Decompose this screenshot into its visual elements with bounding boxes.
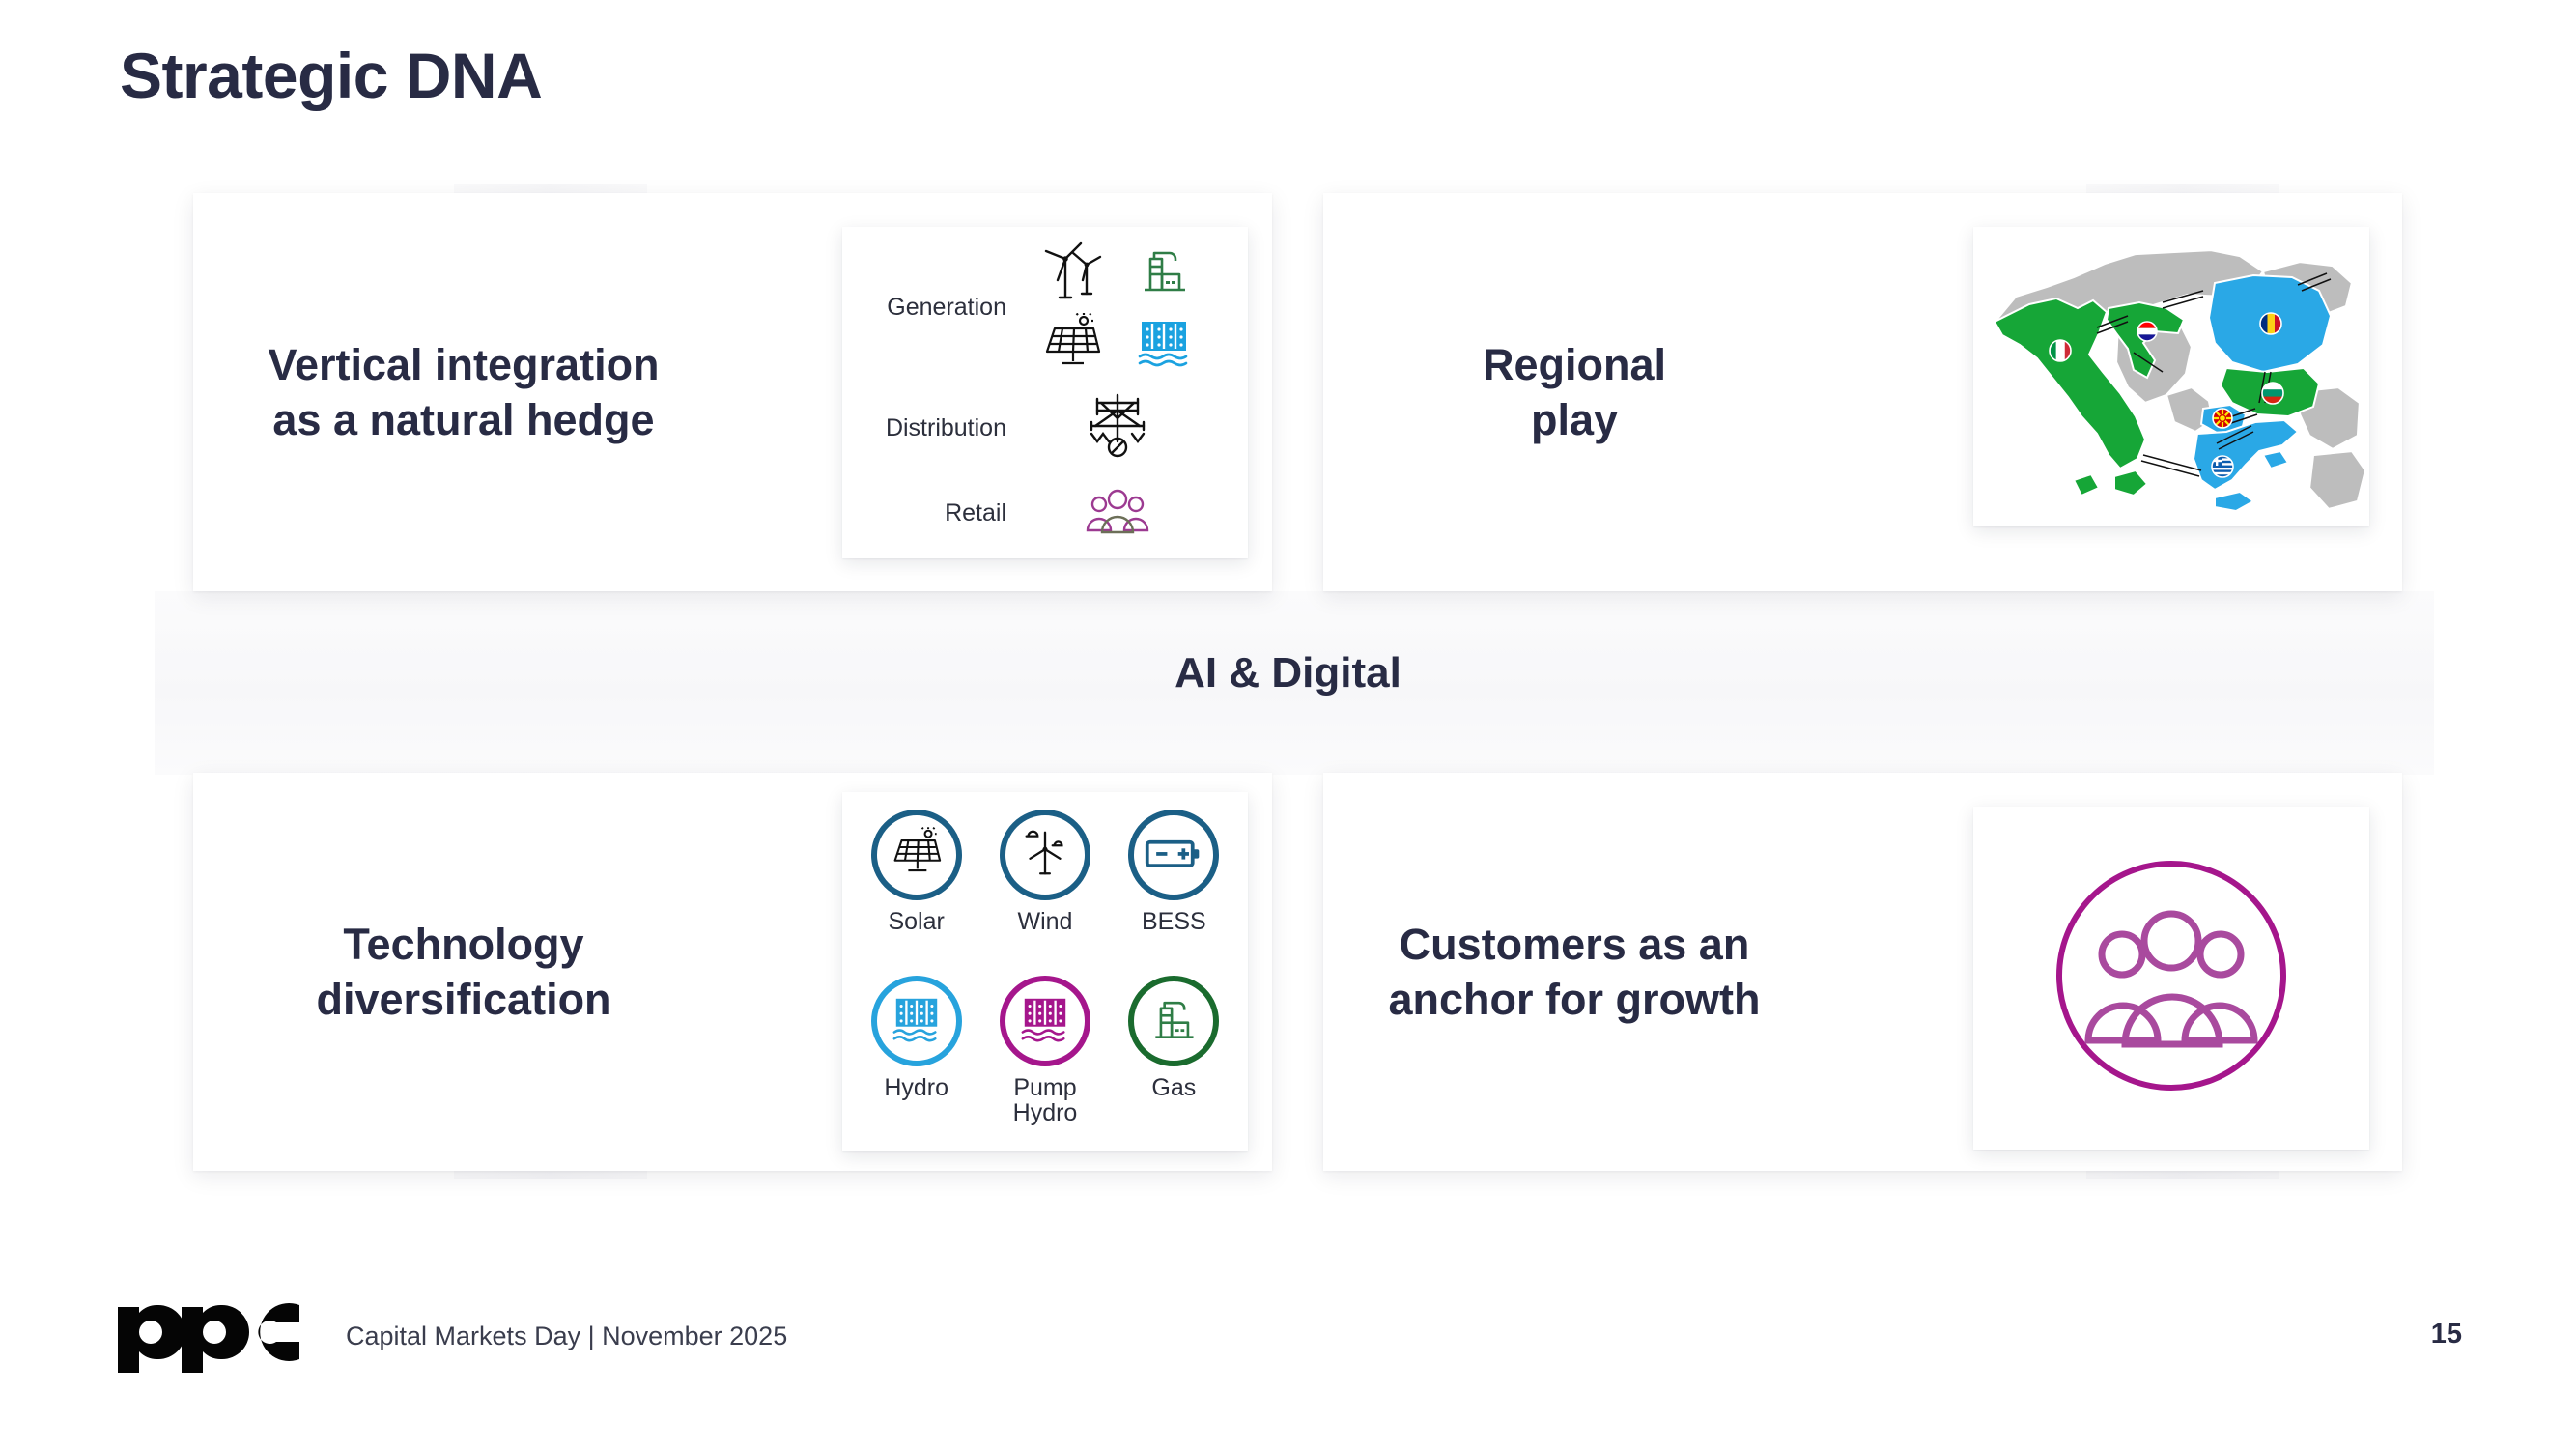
regional-map-panel [1973, 227, 2369, 526]
tech-item-hydro[interactable]: Hydro [852, 976, 980, 1142]
power-pylon-icon [1080, 389, 1155, 468]
gas-plant-icon [1135, 241, 1193, 304]
value-chain-row-generation: Generation [842, 227, 1248, 382]
tech-item-wind[interactable]: Wind [980, 810, 1109, 976]
tech-ring-bess [1128, 810, 1219, 900]
value-chain-label-generation: Generation [842, 293, 1026, 322]
headline-line-1: Technology [193, 917, 734, 972]
technology-grid-panel: Solar [842, 792, 1248, 1151]
value-chain-label-distribution: Distribution [842, 413, 1026, 442]
card-headline-vertical-integration: Vertical integration as a natural hedge [193, 337, 734, 447]
tech-label-pump-hydro-line1: Pump [1013, 1075, 1078, 1100]
value-chain-row-distribution: Distribution [842, 382, 1248, 474]
headline-line-2: diversification [193, 972, 734, 1027]
tech-label-gas: Gas [1151, 1075, 1196, 1100]
tech-ring-gas [1128, 976, 1219, 1066]
hydro-dam-icon [889, 993, 945, 1050]
ai-and-digital-label: AI & Digital [0, 649, 2576, 697]
people-group-icon [1084, 487, 1151, 540]
value-chain-row-retail: Retail [842, 474, 1248, 552]
value-chain-icons-retail [1026, 487, 1248, 540]
value-chain-label-retail: Retail [842, 498, 1026, 527]
tech-ring-solar [871, 810, 962, 900]
map-flag-italy [2050, 340, 2072, 361]
tech-label-pump-hydro: Pump Hydro [1013, 1075, 1078, 1125]
tech-item-bess[interactable]: BESS [1110, 810, 1238, 976]
tech-label-hydro: Hydro [884, 1075, 948, 1100]
footer-event-label: Capital Markets Day | November 2025 [346, 1321, 787, 1351]
tech-item-pump-hydro[interactable]: Pump Hydro [980, 976, 1109, 1142]
slide-canvas: Strategic DNA Vertical integration as a … [0, 0, 2576, 1449]
tech-item-solar[interactable]: Solar [852, 810, 980, 976]
tech-item-gas[interactable]: Gas [1110, 976, 1238, 1142]
tech-label-pump-hydro-line2: Hydro [1013, 1100, 1078, 1125]
gas-plant-icon [1146, 992, 1202, 1051]
pump-hydro-icon [1017, 993, 1073, 1050]
tech-label-solar: Solar [888, 909, 944, 934]
map-country-greece [2194, 420, 2298, 511]
solar-panel-icon [1037, 313, 1107, 378]
tech-label-wind: Wind [1018, 909, 1073, 934]
wind-turbine-icon [1017, 825, 1073, 886]
tech-ring-hydro [871, 976, 962, 1066]
headline-line-1: Customers as an [1323, 917, 1826, 972]
card-headline-regional-play: Regional play [1323, 337, 1826, 447]
ppc-logo [116, 1299, 301, 1378]
hydro-dam-icon [1136, 316, 1192, 375]
card-headline-customers-anchor: Customers as an anchor for growth [1323, 917, 1826, 1027]
value-chain-icons-distribution [1026, 389, 1248, 468]
people-group-circle-icon [2046, 850, 2297, 1106]
headline-line-1: Regional [1323, 337, 1826, 392]
map-flag-romania [2260, 313, 2282, 334]
card-headline-technology-diversification: Technology diversification [193, 917, 734, 1027]
wind-turbine-icon [1036, 238, 1108, 308]
value-chain-icons-generation [1026, 235, 1248, 380]
value-chain-panel: Generation [842, 227, 1248, 558]
headline-line-2: play [1323, 392, 1826, 447]
customers-icon-panel [1973, 807, 2369, 1150]
tech-label-bess: BESS [1142, 909, 1206, 934]
battery-icon [1144, 833, 1203, 878]
solar-panel-icon [887, 827, 947, 884]
page-title: Strategic DNA [120, 39, 542, 112]
map-flag-greece [2212, 456, 2233, 477]
tech-ring-wind [1000, 810, 1090, 900]
southeast-europe-map [1973, 227, 2369, 526]
headline-line-1: Vertical integration [193, 337, 734, 392]
map-flag-bulgaria [2262, 383, 2283, 404]
headline-line-2: anchor for growth [1323, 972, 1826, 1027]
headline-line-2: as a natural hedge [193, 392, 734, 447]
tech-ring-pump-hydro [1000, 976, 1090, 1066]
map-flag-croatia [2137, 322, 2157, 341]
page-number: 15 [2431, 1319, 2462, 1350]
